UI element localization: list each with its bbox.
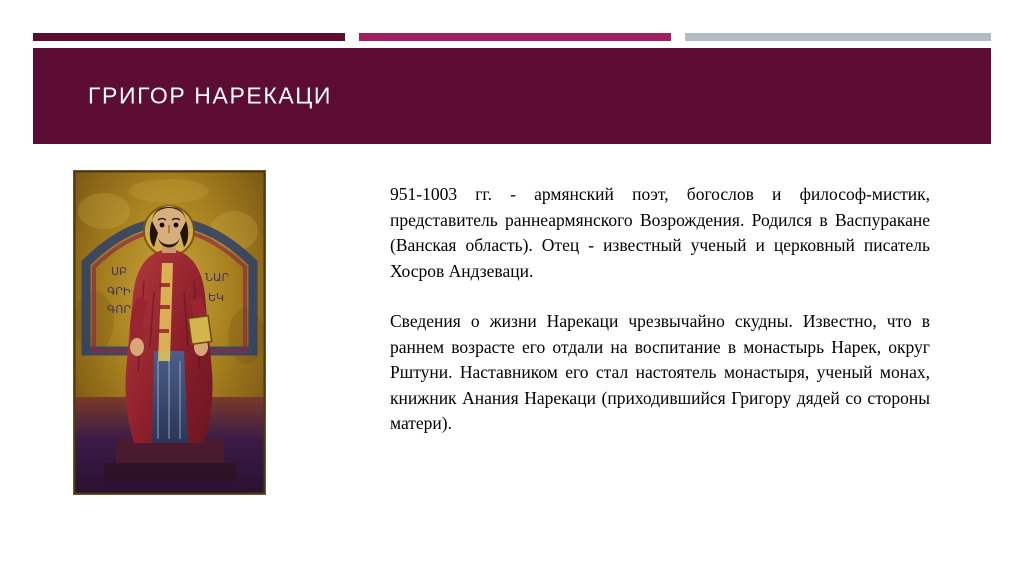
svg-text:ԳՈՐ: ԳՈՐ: [107, 303, 131, 316]
miniature-artwork: ՍԲ ԳՐԻ ԳՈՐ ՆԱՐ ԵԿ: [74, 171, 265, 494]
svg-text:ՍԲ: ՍԲ: [111, 265, 127, 278]
svg-text:ԵԿ: ԵԿ: [208, 291, 224, 304]
svg-text:ԳՐԻ: ԳՐԻ: [107, 285, 131, 298]
gregory-of-narek-illuminated-miniature: ՍԲ ԳՐԻ ԳՈՐ ՆԱՐ ԵԿ: [73, 170, 266, 495]
body-text: 951-1003 гг. - армянский поэт, богослов …: [390, 182, 930, 437]
svg-text:ՆԱՐ: ՆԱՐ: [205, 271, 229, 284]
paragraph-biography: 951-1003 гг. - армянский поэт, богослов …: [390, 182, 930, 284]
decorative-bar-dark: [33, 33, 345, 41]
decorative-bar-magenta: [359, 33, 671, 41]
slide-content: ՍԲ ԳՐԻ ԳՈՐ ՆԱՐ ԵԿ: [0, 170, 1024, 530]
decorative-bar-group: [33, 33, 991, 41]
page-title: ГРИГОР НАРЕКАЦИ: [88, 83, 332, 110]
decorative-bar-gray: [685, 33, 991, 41]
slide-title-band: ГРИГОР НАРЕКАЦИ: [33, 48, 991, 144]
paragraph-life-details: Сведения о жизни Нарекаци чрезвычайно ск…: [390, 309, 930, 437]
